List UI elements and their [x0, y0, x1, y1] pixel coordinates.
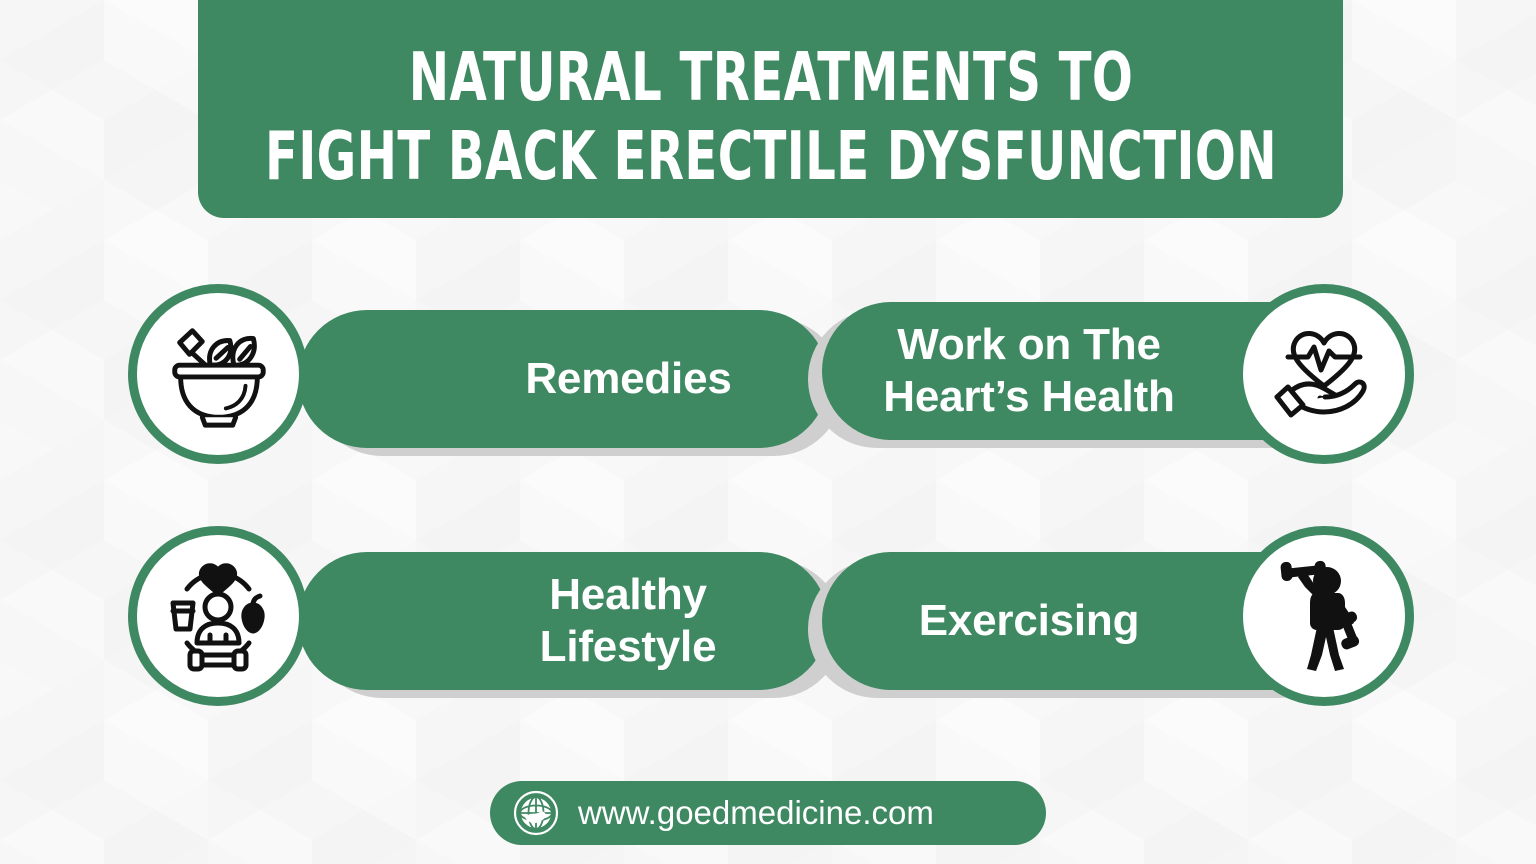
card-label-heart: Work on The Heart’s Health — [844, 319, 1214, 423]
card-pill[interactable]: Remedies — [298, 310, 828, 448]
infographic-poster: NATURAL TREATMENTS TO FIGHT BACK ERECTIL… — [0, 0, 1536, 864]
card-healthy-lifestyle[interactable]: Healthy Lifestyle — [128, 540, 713, 690]
card-exercising[interactable]: Exercising — [822, 540, 1414, 690]
footer-url-text: www.goedmedicine.com — [578, 794, 934, 832]
hand-holding-heart-icon — [1234, 284, 1414, 464]
healthy-lifestyle-icon — [128, 526, 308, 706]
globe-icon — [513, 790, 559, 836]
card-heart-health[interactable]: Work on The Heart’s Health — [822, 290, 1414, 440]
footer-url-bar[interactable]: www.goedmedicine.com — [490, 781, 1046, 845]
page-title: NATURAL TREATMENTS TO FIGHT BACK ERECTIL… — [211, 38, 1331, 196]
person-lifting-dumbbells-icon — [1234, 526, 1414, 706]
card-label-exercise: Exercising — [844, 595, 1214, 647]
card-label-lifestyle: Healthy Lifestyle — [450, 569, 806, 673]
header-banner: NATURAL TREATMENTS TO FIGHT BACK ERECTIL… — [198, 0, 1343, 218]
card-pill[interactable]: Healthy Lifestyle — [298, 552, 828, 690]
card-label-remedies: Remedies — [453, 353, 804, 405]
card-remedies[interactable]: Remedies — [128, 298, 713, 448]
mortar-and-pestle-icon — [128, 284, 308, 464]
